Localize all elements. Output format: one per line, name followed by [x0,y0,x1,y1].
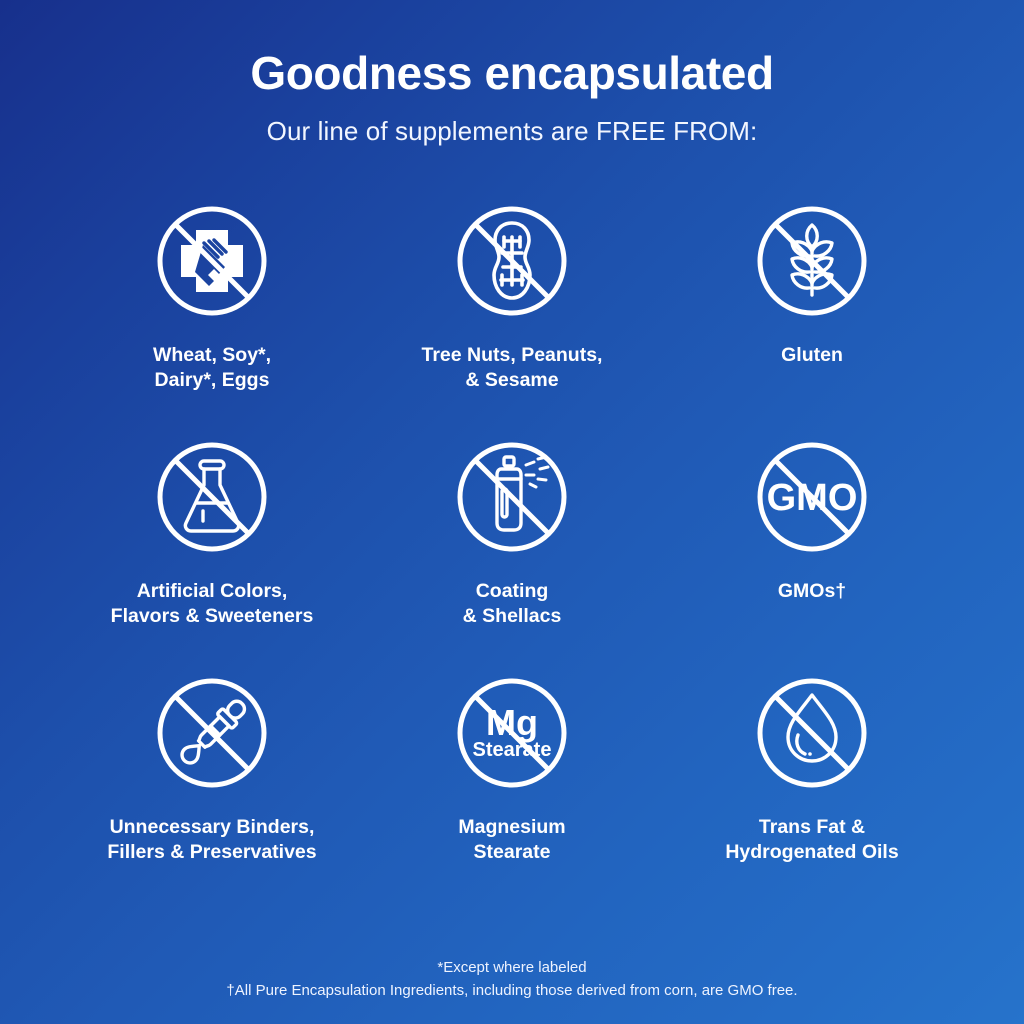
footnotes: *Except where labeled †All Pure Encapsul… [0,957,1024,1002]
grid-item-label: Gluten [781,343,843,369]
grid-item-allergens: Wheat, Soy*, Dairy*, Eggs [62,195,362,427]
page-title: Goodness encapsulated [0,48,1024,100]
no-gmo-text-icon: GMO [746,431,878,563]
grid-item-label: Wheat, Soy*, Dairy*, Eggs [153,343,271,394]
infographic-poster: Goodness encapsulated Our line of supple… [0,0,1024,1024]
footnote-asterisk: *Except where labeled [0,957,1024,980]
no-flask-icon [146,431,278,563]
page-subtitle: Our line of supplements are FREE FROM: [0,116,1024,147]
grid-item-gluten: Gluten [662,195,962,427]
grid-item-nuts: Tree Nuts, Peanuts, & Sesame [362,195,662,427]
grid-item-coating: Coating & Shellacs [362,431,662,663]
grid-item-trans-fat: Trans Fat & Hydrogenated Oils [662,667,962,899]
no-wheat-stalk-icon [746,195,878,327]
no-peanut-icon [446,195,578,327]
grid-item-label: Artificial Colors, Flavors & Sweeteners [111,579,314,630]
grid-item-label: Magnesium Stearate [458,815,565,866]
grid-item-artificial-colors: Artificial Colors, Flavors & Sweeteners [62,431,362,663]
grid-item-label: Tree Nuts, Peanuts, & Sesame [422,343,603,394]
grid-item-label: Trans Fat & Hydrogenated Oils [725,815,898,866]
grid-item-magnesium-stearate: Mg Stearate Magnesium Stearate [362,667,662,899]
grid-item-label: Coating & Shellacs [463,579,562,630]
grid-item-gmo: GMO GMOs† [662,431,962,663]
no-dropper-icon [146,667,278,799]
no-spray-can-icon [446,431,578,563]
footnote-dagger: †All Pure Encapsulation Ingredients, inc… [0,980,1024,1003]
mg-glyph-text: Mg [486,702,538,743]
grid-item-label: Unnecessary Binders, Fillers & Preservat… [107,815,316,866]
grid-item-binders: Unnecessary Binders, Fillers & Preservat… [62,667,362,899]
free-from-grid: Wheat, Soy*, Dairy*, Eggs [62,195,962,899]
grid-item-label: GMOs† [778,579,846,605]
no-mg-stearate-text-icon: Mg Stearate [446,667,578,799]
poster-header: Goodness encapsulated Our line of supple… [0,0,1024,147]
no-water-drop-icon [746,667,878,799]
no-allergen-cross-fork-icon [146,195,278,327]
